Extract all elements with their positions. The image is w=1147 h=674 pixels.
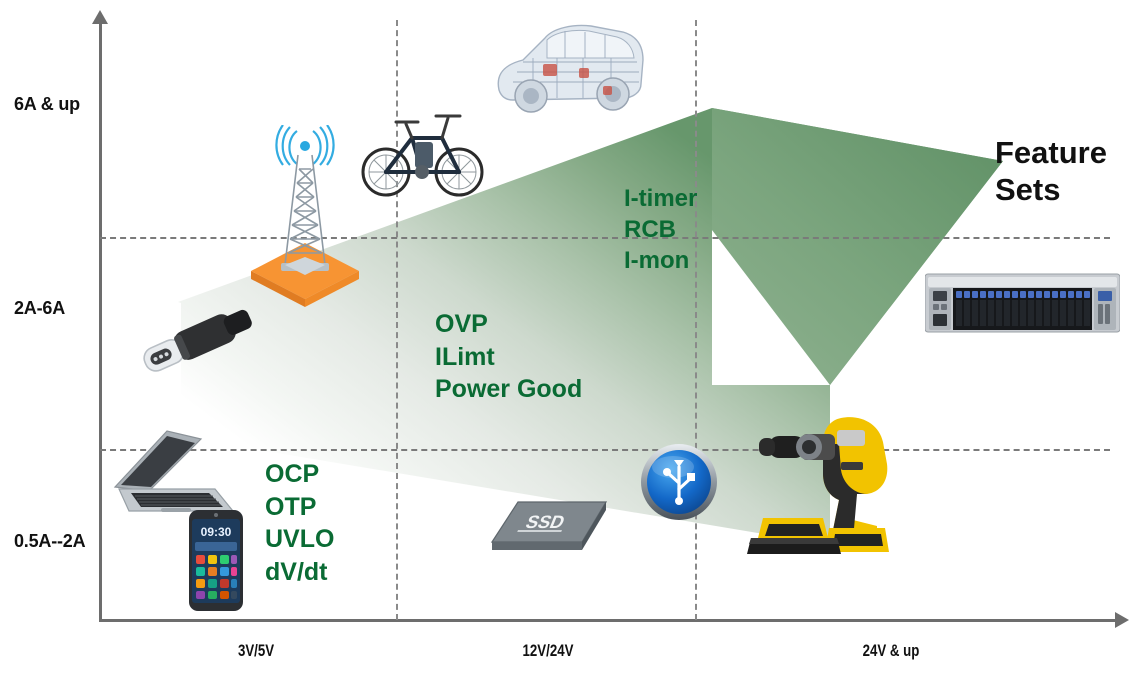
xray-car-icon (487, 12, 647, 117)
usb-logo-badge-icon (640, 443, 718, 521)
y-tick-label-0-5a-2a: 0.5A--2A (14, 531, 85, 552)
feature-item-ocp: OCP (265, 458, 334, 491)
gridline-vertical-left (396, 20, 398, 620)
gridline-horizontal-lower (100, 449, 1110, 451)
page-title-line-1: Feature (995, 135, 1107, 172)
smartphone-icon: 09:30 (187, 508, 245, 613)
ssd-drive-icon: SSD (484, 488, 614, 563)
y-tick-label-6a-and-up: 6A & up (14, 94, 80, 115)
feature-list-low-power: OCP OTP UVLO dV/dt (265, 458, 334, 588)
feature-item-i-timer: I-timer (624, 183, 697, 214)
svg-text:09:30: 09:30 (201, 525, 232, 539)
laptop-icon (105, 425, 240, 520)
feature-item-uvlo: UVLO (265, 523, 334, 556)
x-tick-label-24v-and-up: 24V & up (829, 641, 954, 661)
feature-item-power-good: Power Good (435, 373, 582, 406)
cell-tower-icon (243, 125, 367, 310)
page-title-line-2: Sets (995, 172, 1107, 209)
feature-item-i-mon: I-mon (624, 245, 697, 276)
x-axis-line (99, 619, 1119, 622)
gridline-horizontal-upper (100, 237, 1110, 239)
feature-item-dvdt: dV/dt (265, 556, 334, 589)
cordless-drill-icon (745, 400, 925, 560)
feature-item-otp: OTP (265, 491, 334, 524)
y-axis-line (99, 22, 102, 622)
usb-c-connector-icon (122, 300, 262, 390)
y-tick-label-2a-6a: 2A-6A (14, 298, 65, 319)
svg-text:SSD: SSD (523, 512, 568, 532)
gridline-vertical-right (695, 20, 697, 620)
x-axis-arrowhead (1115, 612, 1129, 628)
feature-item-rcb: RCB (624, 214, 697, 245)
diagram-canvas: 6A & up 2A-6A 0.5A--2A 3V/5V 12V/24V 24V… (0, 0, 1147, 674)
feature-item-ovp: OVP (435, 308, 582, 341)
feature-list-high-power: I-timer RCB I-mon (624, 183, 697, 277)
feature-list-mid-power: OVP ILimt Power Good (435, 308, 582, 406)
x-tick-label-3v-5v: 3V/5V (194, 641, 319, 661)
y-axis-arrowhead (92, 10, 108, 24)
page-title: Feature Sets (995, 135, 1107, 208)
feature-item-ilimit: ILimt (435, 341, 582, 374)
electric-bicycle-icon (360, 98, 485, 203)
x-tick-label-12v-24v: 12V/24V (486, 641, 611, 661)
rack-server-icon (925, 272, 1120, 334)
